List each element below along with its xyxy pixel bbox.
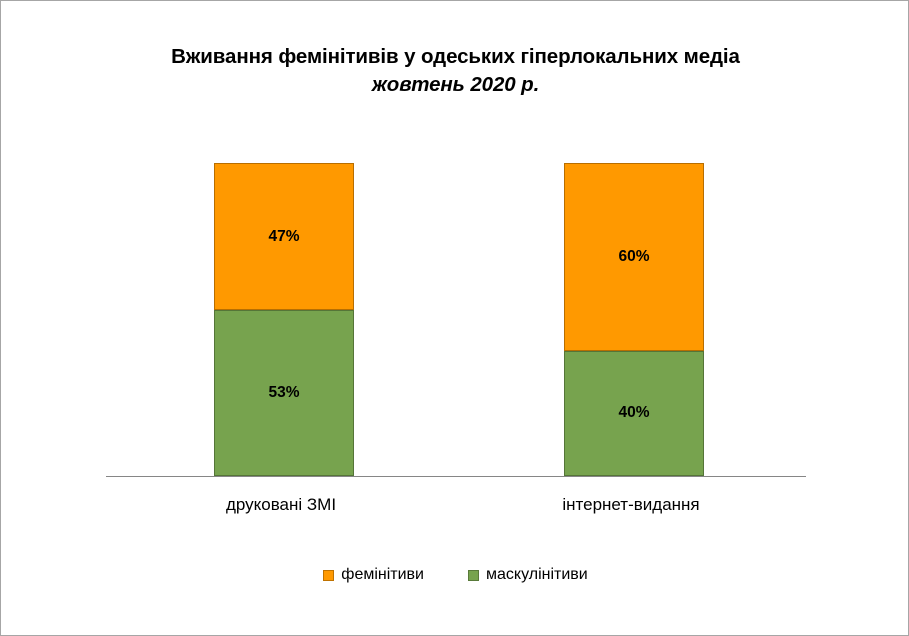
bar-value-label: 47%: [268, 228, 299, 246]
legend-label: маскулінітиви: [486, 567, 588, 583]
bar-segment-feminityvy-0[interactable]: 47%: [214, 163, 354, 310]
legend-item-maskulinityvy[interactable]: маскулінітиви: [468, 567, 588, 583]
plot-area: 47% 53% 60% 40%: [106, 151, 806, 476]
bar-segment-feminityvy-1[interactable]: 60%: [564, 163, 704, 351]
bar-segment-maskulinityvy-1[interactable]: 40%: [564, 351, 704, 476]
chart-title-line-1: Вживання фемінітивів у одеських гіперлок…: [1, 43, 909, 71]
chart-container: Вживання фемінітивів у одеських гіперлок…: [0, 0, 909, 636]
bar-segment-maskulinityvy-0[interactable]: 53%: [214, 310, 354, 476]
legend-label: фемінітиви: [341, 567, 424, 583]
legend-swatch-icon: [468, 570, 479, 581]
x-axis-label-internet-vydannia: інтернет-видання: [456, 495, 806, 515]
legend-item-feminityvy[interactable]: фемінітиви: [323, 567, 424, 583]
chart-title: Вживання фемінітивів у одеських гіперлок…: [1, 43, 909, 100]
bar-value-label: 53%: [268, 384, 299, 402]
bar-group-internet-vydannia: 60% 40%: [564, 163, 704, 476]
legend-swatch-icon: [323, 570, 334, 581]
chart-legend: фемінітиви маскулінітиви: [1, 567, 909, 583]
x-axis-label-drukovani-zmi: друковані ЗМІ: [106, 495, 456, 515]
x-axis-category-labels: друковані ЗМІ інтернет-видання: [106, 495, 806, 525]
bar-value-label: 40%: [618, 404, 649, 422]
bar-value-label: 60%: [618, 248, 649, 266]
chart-title-line-2: жовтень 2020 р.: [1, 71, 909, 99]
x-axis-line: [106, 476, 806, 477]
bar-group-drukovani-zmi: 47% 53%: [214, 163, 354, 476]
